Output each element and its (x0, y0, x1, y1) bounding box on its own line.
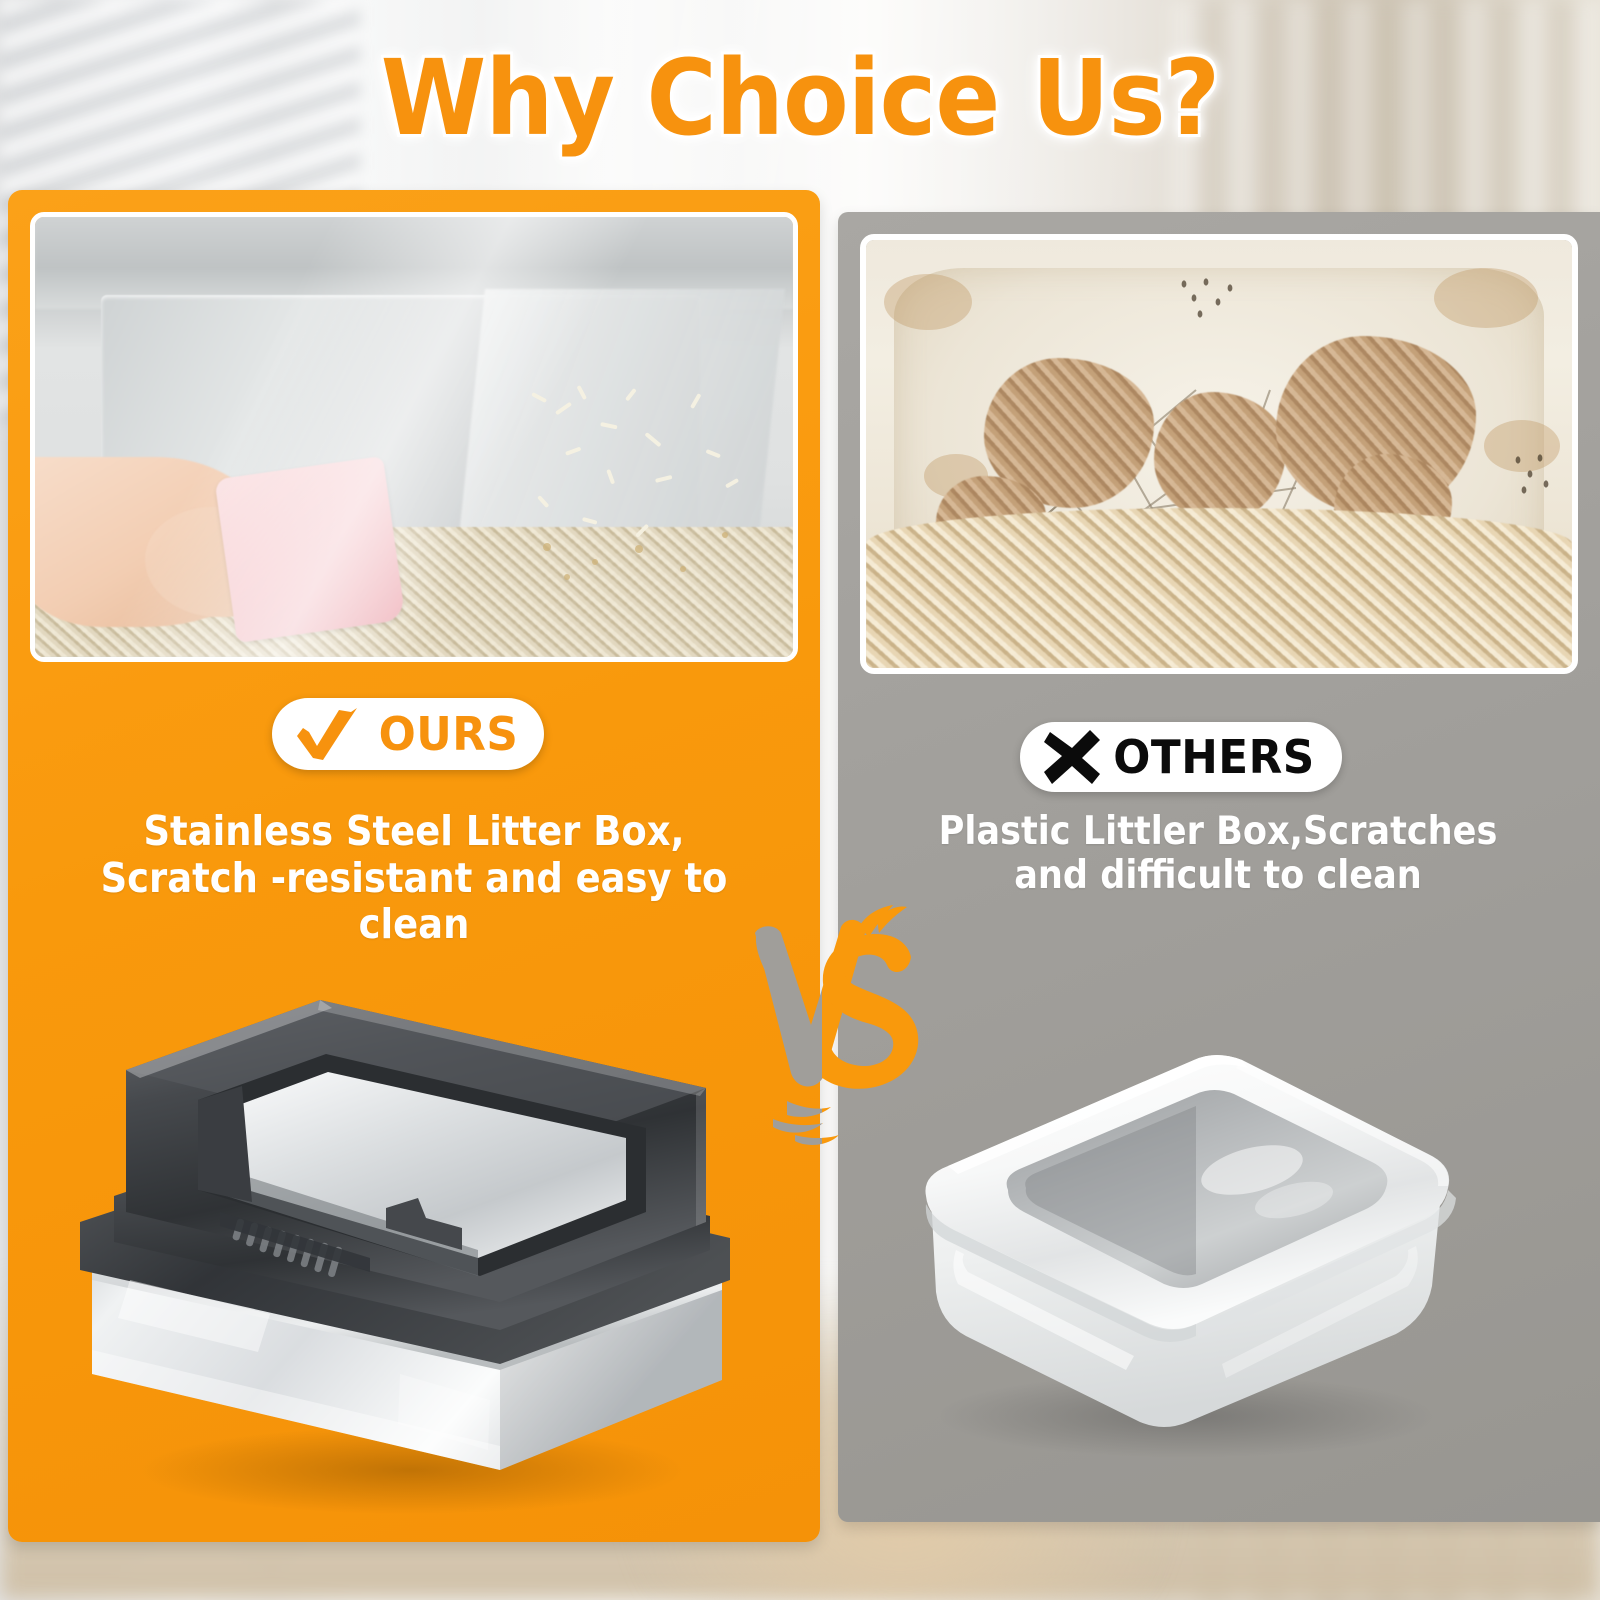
infographic-canvas: Why Choice Us? (0, 0, 1600, 1600)
comparison-column-ours: OURS Stainless Steel Litter Box, Scratch… (8, 190, 820, 1542)
others-description: Plastic Littler Box,Scratches and diffic… (903, 810, 1533, 899)
litter-pile (866, 508, 1572, 668)
others-photo (860, 234, 1578, 674)
litter-residue (35, 217, 793, 657)
comparison-column-others: OTHERS Plastic Littler Box,Scratches and… (838, 212, 1600, 1522)
badge-ours[interactable]: OURS (272, 698, 544, 770)
ours-description-line1: Stainless Steel Litter Box, (67, 808, 762, 855)
badge-others-label: OTHERS (1113, 730, 1314, 784)
page-title-text: Why Choice Us? (64, 46, 1536, 150)
page-title: Why Choice Us? (0, 46, 1600, 150)
ours-product-image (70, 950, 742, 1516)
ours-description-line2: Scratch -resistant and easy to clean (67, 855, 762, 948)
badge-ours-label: OURS (379, 707, 519, 761)
ours-photo (30, 212, 798, 662)
others-description-line1: Plastic Littler Box,Scratches (903, 810, 1533, 854)
vs-divider-graphic (735, 905, 925, 1160)
others-description-line2: and difficult to clean (903, 854, 1533, 898)
others-product-image (896, 1018, 1466, 1468)
check-icon (293, 706, 365, 762)
badge-others[interactable]: OTHERS (1020, 722, 1342, 792)
cross-icon (1042, 728, 1102, 786)
ours-description: Stainless Steel Litter Box, Scratch -res… (67, 808, 762, 948)
